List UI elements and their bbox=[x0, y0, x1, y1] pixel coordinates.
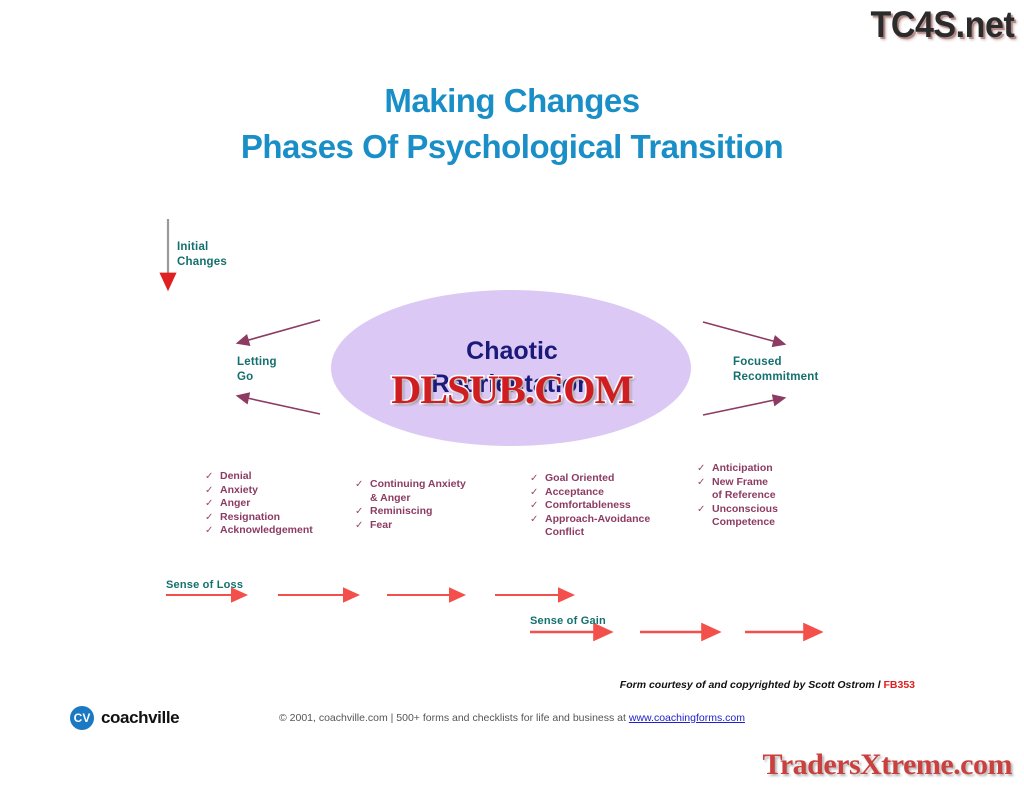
list-item-label: Anticipation bbox=[712, 462, 773, 476]
list-item: ✓Unconscious Competence bbox=[697, 503, 778, 530]
list-item: ✓Anticipation bbox=[697, 462, 778, 476]
list-item-label: Approach-Avoidance Conflict bbox=[545, 513, 650, 540]
slide-canvas: TC4S.net Making Changes Phases Of Psycho… bbox=[0, 0, 1024, 791]
copyright-text: © 2001, coachville.com | 500+ forms and … bbox=[279, 712, 629, 724]
check-icon: ✓ bbox=[205, 484, 220, 498]
check-icon: ✓ bbox=[530, 472, 545, 486]
transition-list: ✓Continuing Anxiety & Anger✓Reminiscing✓… bbox=[355, 478, 466, 532]
list-item-label: Reminiscing bbox=[370, 505, 432, 519]
list-item-label: Unconscious Competence bbox=[712, 503, 778, 530]
list-item: ✓New Frame of Reference bbox=[697, 476, 778, 503]
list-item-label: Acceptance bbox=[545, 486, 604, 500]
list-item-label: Anger bbox=[220, 497, 250, 511]
list-item-label: Fear bbox=[370, 519, 392, 533]
list-item: ✓Comfortableness bbox=[530, 499, 650, 513]
list-item-label: New Frame of Reference bbox=[712, 476, 776, 503]
initial-changes-label: Initial Changes bbox=[177, 240, 227, 269]
letting-go-list: ✓Denial✓Anxiety✓Anger✓Resignation✓Acknow… bbox=[205, 470, 313, 538]
check-icon: ✓ bbox=[697, 476, 712, 490]
list-item-label: Goal Oriented bbox=[545, 472, 614, 486]
tradersxtreme-watermark: TradersXtreme.com bbox=[763, 748, 1012, 782]
list-item-label: Resignation bbox=[220, 511, 280, 525]
list-item: ✓Acknowledgement bbox=[205, 524, 313, 538]
coachingforms-link[interactable]: www.coachingforms.com bbox=[629, 712, 745, 724]
list-item: ✓Anger bbox=[205, 497, 313, 511]
list-item: ✓Goal Oriented bbox=[530, 472, 650, 486]
check-icon: ✓ bbox=[355, 505, 370, 519]
list-item-label: Acknowledgement bbox=[220, 524, 313, 538]
reorientation-list: ✓Goal Oriented✓Acceptance✓Comfortablenes… bbox=[530, 472, 650, 540]
coachville-wordmark: coachville bbox=[101, 708, 179, 728]
credit-code: FB353 bbox=[883, 679, 915, 691]
list-item: ✓Resignation bbox=[205, 511, 313, 525]
sense-of-loss-label: Sense of Loss bbox=[166, 578, 243, 593]
list-item: ✓Fear bbox=[355, 519, 466, 533]
check-icon: ✓ bbox=[205, 470, 220, 484]
sense-of-gain-label: Sense of Gain bbox=[530, 614, 606, 629]
recommitment-list: ✓Anticipation✓New Frame of Reference✓Unc… bbox=[697, 462, 778, 530]
list-item-label: Comfortableness bbox=[545, 499, 631, 513]
dlsub-watermark: DLSUB.COM bbox=[0, 366, 1024, 413]
list-item-label: Continuing Anxiety & Anger bbox=[370, 478, 466, 505]
credit-line: Form courtesy of and copyrighted by Scot… bbox=[0, 679, 915, 691]
check-icon: ✓ bbox=[530, 499, 545, 513]
list-item: ✓Continuing Anxiety & Anger bbox=[355, 478, 466, 505]
check-icon: ✓ bbox=[697, 503, 712, 517]
list-item-label: Denial bbox=[220, 470, 252, 484]
list-item: ✓Approach-Avoidance Conflict bbox=[530, 513, 650, 540]
credit-text: Form courtesy of and copyrighted by Scot… bbox=[620, 679, 884, 691]
check-icon: ✓ bbox=[205, 511, 220, 525]
list-item: ✓Reminiscing bbox=[355, 505, 466, 519]
dlsub-watermark-text: DLSUB.COM bbox=[391, 367, 632, 412]
check-icon: ✓ bbox=[355, 519, 370, 533]
check-icon: ✓ bbox=[530, 486, 545, 500]
center-label-line1: Chaotic bbox=[0, 337, 1024, 366]
list-item-label: Anxiety bbox=[220, 484, 258, 498]
check-icon: ✓ bbox=[205, 497, 220, 511]
cv-badge-icon: CV bbox=[70, 706, 94, 730]
coachville-logo: CV coachville bbox=[70, 706, 179, 730]
list-item: ✓Anxiety bbox=[205, 484, 313, 498]
check-icon: ✓ bbox=[355, 478, 370, 492]
check-icon: ✓ bbox=[205, 524, 220, 538]
list-item: ✓Denial bbox=[205, 470, 313, 484]
list-item: ✓Acceptance bbox=[530, 486, 650, 500]
check-icon: ✓ bbox=[530, 513, 545, 527]
check-icon: ✓ bbox=[697, 462, 712, 476]
